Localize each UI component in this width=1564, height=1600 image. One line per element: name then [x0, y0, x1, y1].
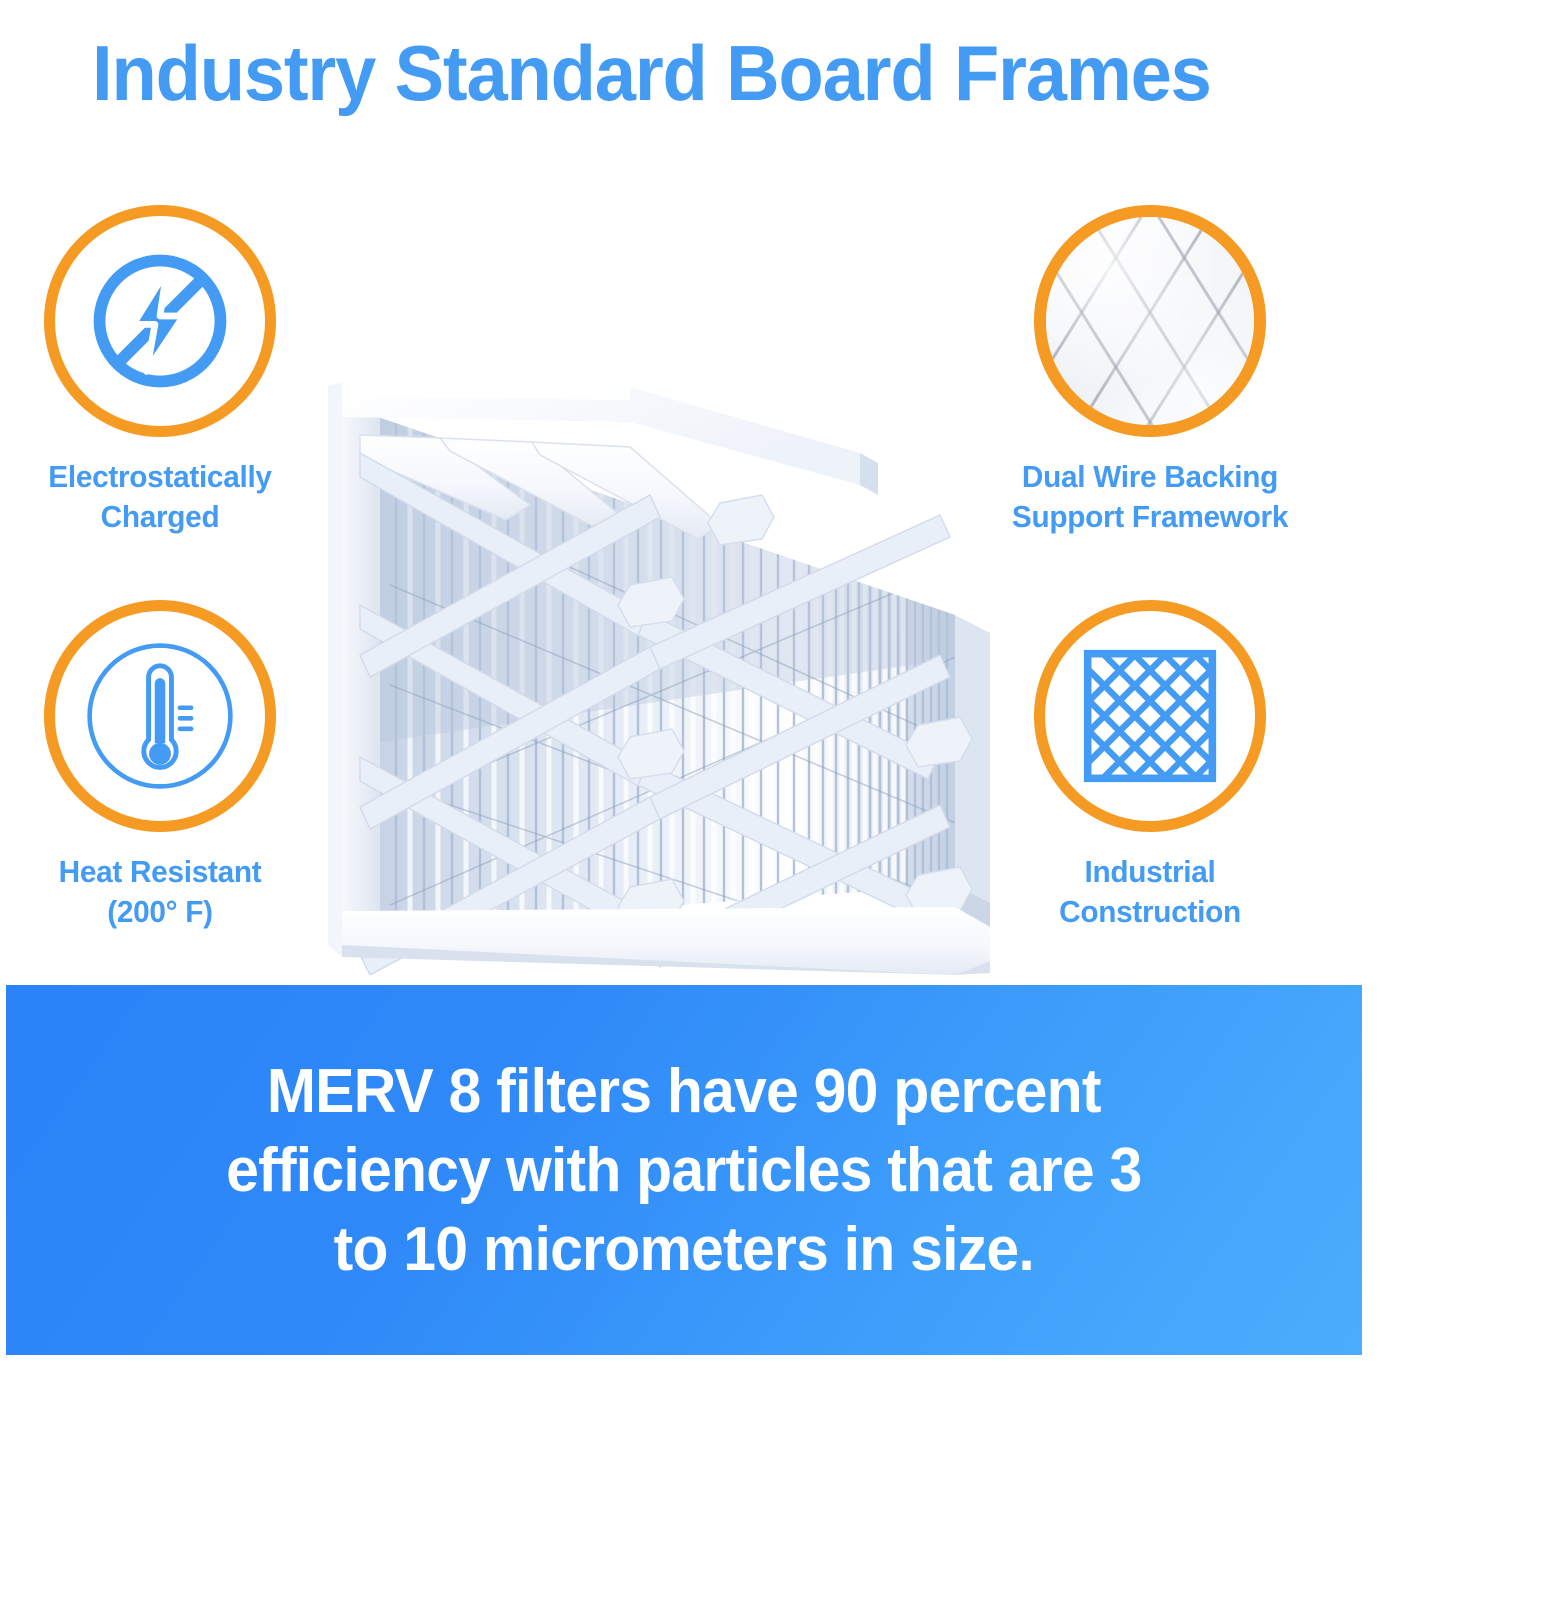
- frame-left-edge: [328, 383, 342, 957]
- banner-text: MERV 8 filters have 90 percent efficienc…: [226, 1052, 1141, 1289]
- feature-label-line1: Heat Resistant: [2, 852, 319, 892]
- mesh-highlight: [1046, 217, 1254, 425]
- thermometer-icon: [44, 600, 276, 832]
- feature-label: Dual Wire Backing Support Framework: [992, 457, 1309, 537]
- product-image-pleated-air-filter: [300, 185, 1000, 975]
- lattice-square-icon: [1034, 600, 1266, 832]
- feature-label-line2: Support Framework: [992, 497, 1309, 537]
- merv-info-banner: MERV 8 filters have 90 percent efficienc…: [6, 985, 1362, 1355]
- icon-artwork: [1045, 611, 1255, 821]
- feature-industrial-construction: Industrial Construction: [985, 600, 1315, 932]
- banner-line-3: to 10 micrometers in size.: [226, 1210, 1141, 1289]
- feature-heat-resistant: Heat Resistant (200° F): [0, 600, 325, 932]
- feature-label: Heat Resistant (200° F): [2, 852, 319, 932]
- banner-line-2: efficiency with particles that are 3: [226, 1131, 1141, 1210]
- icon-artwork: [55, 216, 265, 426]
- feature-label-line1: Electrostatically: [2, 457, 319, 497]
- feature-label-line1: Industrial: [992, 852, 1309, 892]
- feature-label-line2: Charged: [2, 497, 319, 537]
- feature-label-line1: Dual Wire Backing: [992, 457, 1309, 497]
- feature-dual-wire-backing: Dual Wire Backing Support Framework: [985, 205, 1315, 537]
- feature-label: Industrial Construction: [992, 852, 1309, 932]
- wire-mesh-photo-icon: [1034, 205, 1266, 437]
- banner-line-1: MERV 8 filters have 90 percent: [226, 1052, 1141, 1131]
- no-static-lightning-icon: [44, 205, 276, 437]
- feature-label-line2: Construction: [992, 892, 1309, 932]
- icon-artwork: [55, 611, 265, 821]
- page-title: Industry Standard Board Frames: [92, 30, 1211, 116]
- feature-electrostatically-charged: Electrostatically Charged: [0, 205, 325, 537]
- feature-label-line2: (200° F): [2, 892, 319, 932]
- feature-label: Electrostatically Charged: [2, 457, 319, 537]
